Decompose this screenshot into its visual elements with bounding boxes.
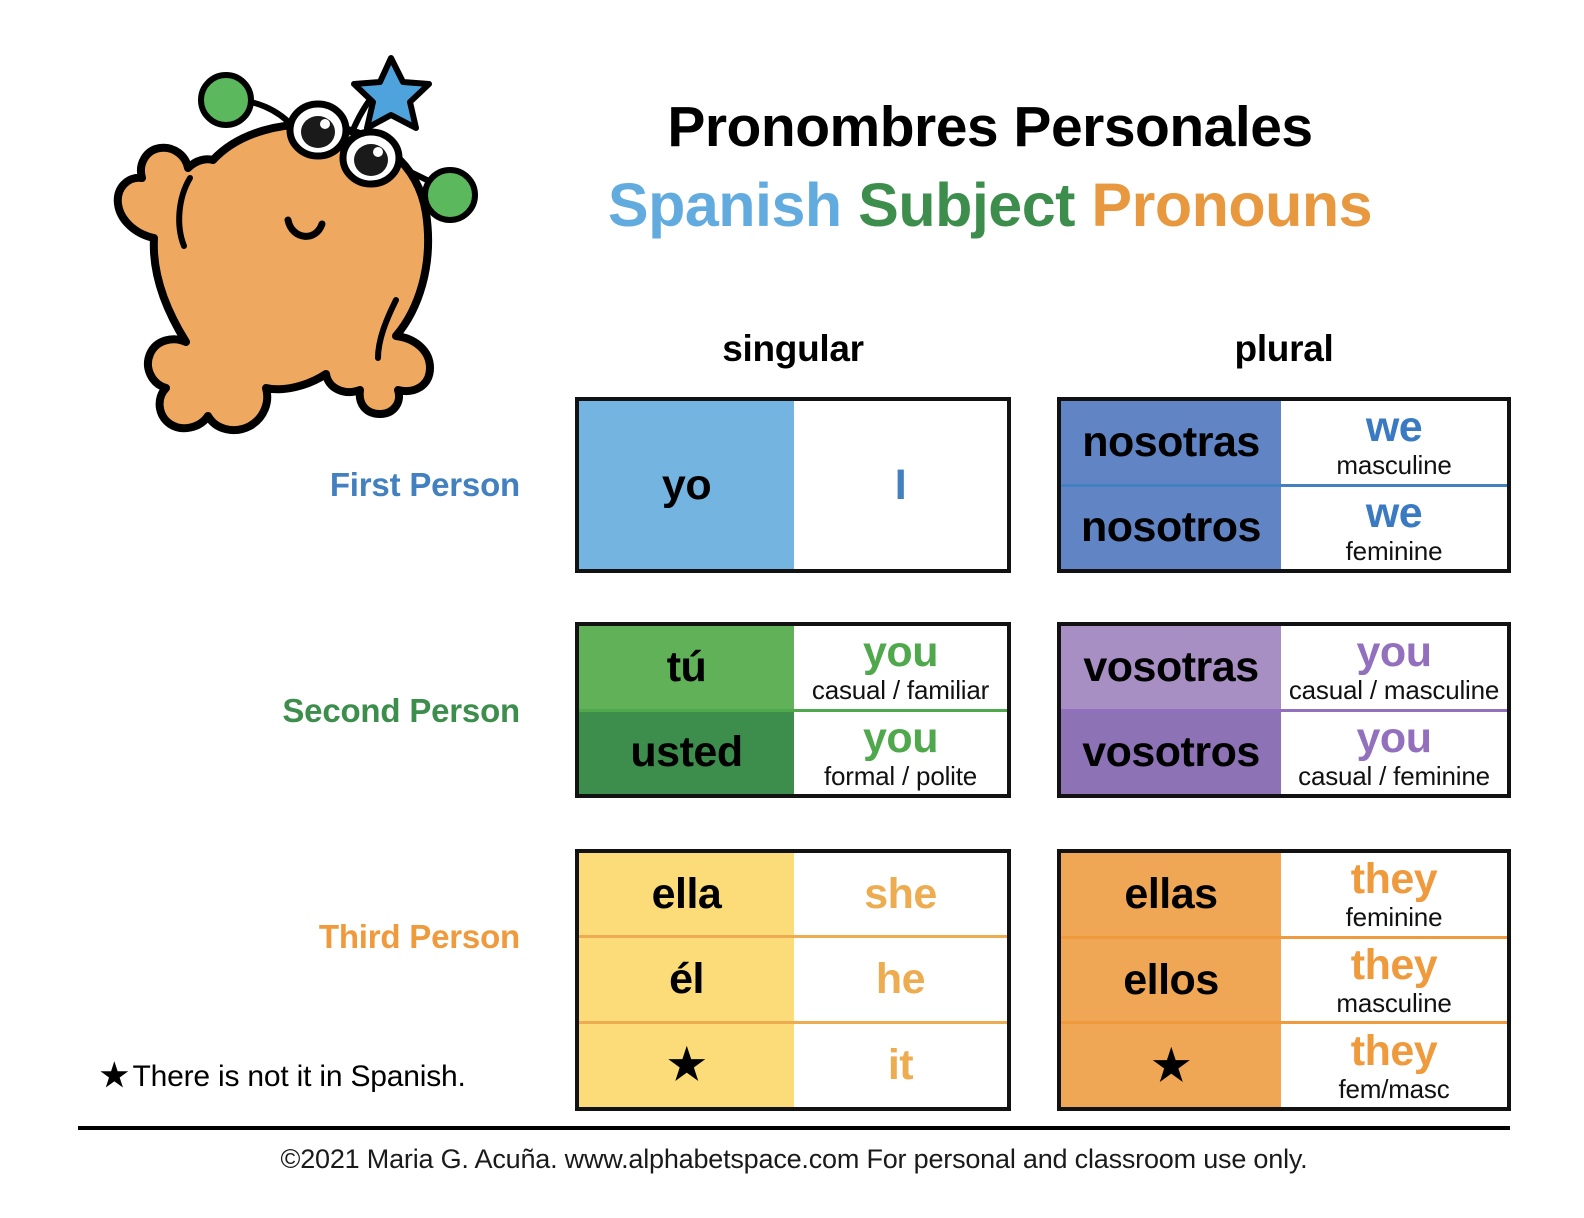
pronoun-row: vosotrasyoucasual / masculine: [1061, 626, 1507, 709]
table-first-person-singular: yoI: [575, 397, 1011, 573]
pronoun-row: ellashe: [579, 853, 1007, 935]
table-third-person-singular: ellasheélhe★it: [575, 849, 1011, 1111]
pronoun-english-cell: wemasculine: [1281, 401, 1507, 484]
pronoun-english-note: casual / masculine: [1289, 677, 1499, 703]
title-word-subject: Subject: [858, 171, 1075, 239]
pronoun-english-note: casual / familiar: [812, 677, 989, 703]
column-headers: singular plural: [0, 328, 1584, 374]
pronoun-english-word: you: [1357, 717, 1432, 760]
page-title-spanish: Pronombres Personales: [520, 95, 1460, 161]
eye-highlight-left-icon: [320, 119, 330, 129]
pronoun-row: nosotroswefeminine: [1061, 484, 1507, 570]
pronoun-english-word: it: [888, 1044, 913, 1087]
pronoun-english-cell: theyfem/masc: [1281, 1024, 1507, 1107]
table-second-person-singular: túyoucasual / familiarustedyouformal / p…: [575, 622, 1011, 798]
pronoun-row: vosotrosyoucasual / feminine: [1061, 709, 1507, 795]
pronoun-english-word: they: [1351, 944, 1437, 987]
pronoun-row: ellastheyfeminine: [1061, 853, 1507, 936]
star-icon: [354, 58, 429, 128]
pronoun-row: ustedyouformal / polite: [579, 709, 1007, 795]
pronoun-english-note: formal / polite: [824, 763, 977, 789]
mascot-svg: [78, 38, 498, 458]
pronoun-spanish-cell: tú: [579, 626, 794, 709]
pronoun-english-word: they: [1351, 1030, 1437, 1073]
pronoun-spanish-cell: vosotros: [1061, 712, 1281, 795]
pronoun-english-note: feminine: [1346, 904, 1443, 930]
table-second-person-plural: vosotrasyoucasual / masculinevosotrosyou…: [1057, 622, 1511, 798]
asterisk-icon: ★: [100, 1057, 129, 1093]
pronoun-english-word: they: [1351, 858, 1437, 901]
pronoun-english-note: masculine: [1336, 990, 1451, 1016]
pronoun-spanish-cell: ★: [1061, 1024, 1281, 1107]
pronoun-english-word: you: [1357, 631, 1432, 674]
pronoun-english-word: you: [863, 631, 938, 674]
pronoun-spanish-cell: usted: [579, 712, 794, 795]
pronoun-row: ★theyfem/masc: [1061, 1021, 1507, 1107]
row-label-third-person: Third Person: [90, 918, 520, 956]
pronoun-row: yoI: [579, 401, 1007, 569]
column-header-singular: singular: [575, 328, 1011, 370]
pronoun-spanish-cell: nosotros: [1061, 487, 1281, 570]
footnote: ★There is not it in Spanish.: [100, 1056, 466, 1094]
pronoun-english-note: casual / feminine: [1298, 763, 1490, 789]
pronoun-row: ellostheymasculine: [1061, 936, 1507, 1022]
pronoun-english-note: feminine: [1346, 538, 1443, 564]
pronoun-spanish-cell: yo: [579, 401, 794, 569]
pronoun-english-word: I: [895, 464, 906, 507]
title-block: Pronombres Personales Spanish Subject Pr…: [520, 95, 1460, 243]
pronoun-row: túyoucasual / familiar: [579, 626, 1007, 709]
eye-highlight-right-icon: [373, 147, 383, 157]
pronoun-english-cell: youformal / polite: [794, 712, 1007, 795]
pronoun-spanish-cell: ella: [579, 853, 794, 935]
pronoun-english-cell: he: [794, 938, 1007, 1020]
row-label-first-person: First Person: [90, 466, 520, 504]
footer-credit: ©2021 Maria G. Acuña. www.alphabetspace.…: [78, 1144, 1510, 1175]
pronoun-spanish-cell: ★: [579, 1024, 794, 1107]
pronoun-english-cell: wefeminine: [1281, 487, 1507, 570]
pronoun-english-cell: youcasual / feminine: [1281, 712, 1507, 795]
pronoun-english-note: fem/masc: [1338, 1076, 1449, 1102]
pronoun-spanish-cell: él: [579, 938, 794, 1020]
row-label-second-person: Second Person: [90, 692, 520, 730]
pupil-left-icon: [301, 116, 335, 148]
table-third-person-plural: ellastheyfeminineellostheymasculine★they…: [1057, 849, 1511, 1111]
pronoun-english-cell: theymasculine: [1281, 939, 1507, 1022]
column-header-plural: plural: [1057, 328, 1511, 370]
pronoun-row: élhe: [579, 935, 1007, 1020]
pronoun-english-cell: she: [794, 853, 1007, 935]
pronoun-row: ★it: [579, 1021, 1007, 1107]
pronoun-english-note: masculine: [1336, 452, 1451, 478]
footer-divider: [78, 1126, 1510, 1130]
pronoun-english-word: you: [863, 717, 938, 760]
pronoun-english-word: we: [1366, 406, 1422, 449]
pronoun-english-cell: youcasual / masculine: [1281, 626, 1507, 709]
pronoun-english-cell: theyfeminine: [1281, 853, 1507, 936]
footnote-text: There is not it in Spanish.: [133, 1060, 466, 1093]
pronoun-spanish-cell: nosotras: [1061, 401, 1281, 484]
pronoun-row: nosotraswemasculine: [1061, 401, 1507, 484]
pronoun-english-word: we: [1366, 492, 1422, 535]
pronoun-english-cell: I: [794, 401, 1007, 569]
title-word-spanish: Spanish: [608, 171, 842, 239]
page-title-english: Spanish Subject Pronouns: [520, 167, 1460, 243]
pronoun-english-word: he: [876, 958, 925, 1001]
mascot-illustration: [78, 38, 498, 458]
pronoun-spanish-cell: ellas: [1061, 853, 1281, 936]
table-first-person-plural: nosotraswemasculinenosotroswefeminine: [1057, 397, 1511, 573]
pronoun-english-cell: youcasual / familiar: [794, 626, 1007, 709]
title-word-pronouns: Pronouns: [1091, 171, 1372, 239]
pronoun-spanish-cell: ellos: [1061, 939, 1281, 1022]
antenna-ball-right-icon: [425, 170, 475, 220]
antenna-ball-left-icon: [201, 75, 251, 125]
pronoun-english-cell: it: [794, 1024, 1007, 1107]
pronoun-english-word: she: [864, 873, 937, 916]
pronoun-spanish-cell: vosotras: [1061, 626, 1281, 709]
pupil-right-icon: [354, 144, 388, 176]
